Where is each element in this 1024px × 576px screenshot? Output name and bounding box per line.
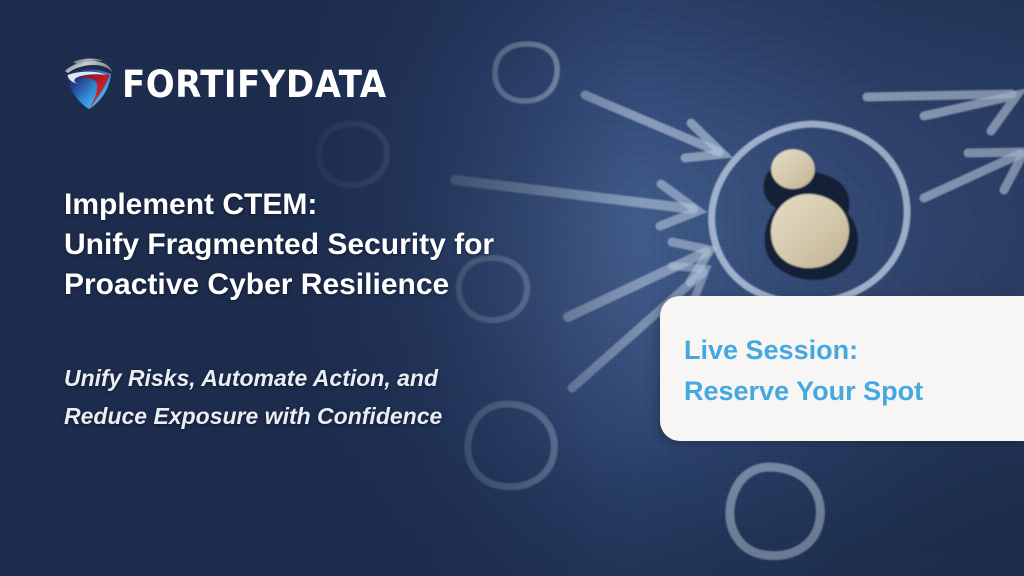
shield-icon [64, 58, 114, 110]
live-session-cta-card[interactable]: Live Session: Reserve Your Spot [660, 296, 1024, 441]
subheadline-line-2: Reduce Exposure with Confidence [64, 398, 584, 436]
headline-line-3: Proactive Cyber Resilience [64, 265, 604, 305]
headline-line-1: Implement CTEM: [64, 185, 604, 225]
brand-logo: FORTIFYDATA [64, 58, 410, 110]
webinar-promo-banner: FORTIFYDATA Implement CTEM: Unify Fragme… [0, 0, 1024, 576]
brand-logo-text: FORTIFYDATA [122, 66, 387, 103]
banner-content: FORTIFYDATA Implement CTEM: Unify Fragme… [0, 0, 1024, 576]
cta-line-1: Live Session: [684, 330, 923, 371]
headline-line-2: Unify Fragmented Security for [64, 225, 604, 265]
cta-text: Live Session: Reserve Your Spot [684, 330, 923, 412]
headline: Implement CTEM: Unify Fragmented Securit… [64, 185, 604, 305]
cta-line-2: Reserve Your Spot [684, 371, 923, 412]
subheadline-line-1: Unify Risks, Automate Action, and [64, 360, 584, 398]
subheadline: Unify Risks, Automate Action, and Reduce… [64, 360, 584, 436]
